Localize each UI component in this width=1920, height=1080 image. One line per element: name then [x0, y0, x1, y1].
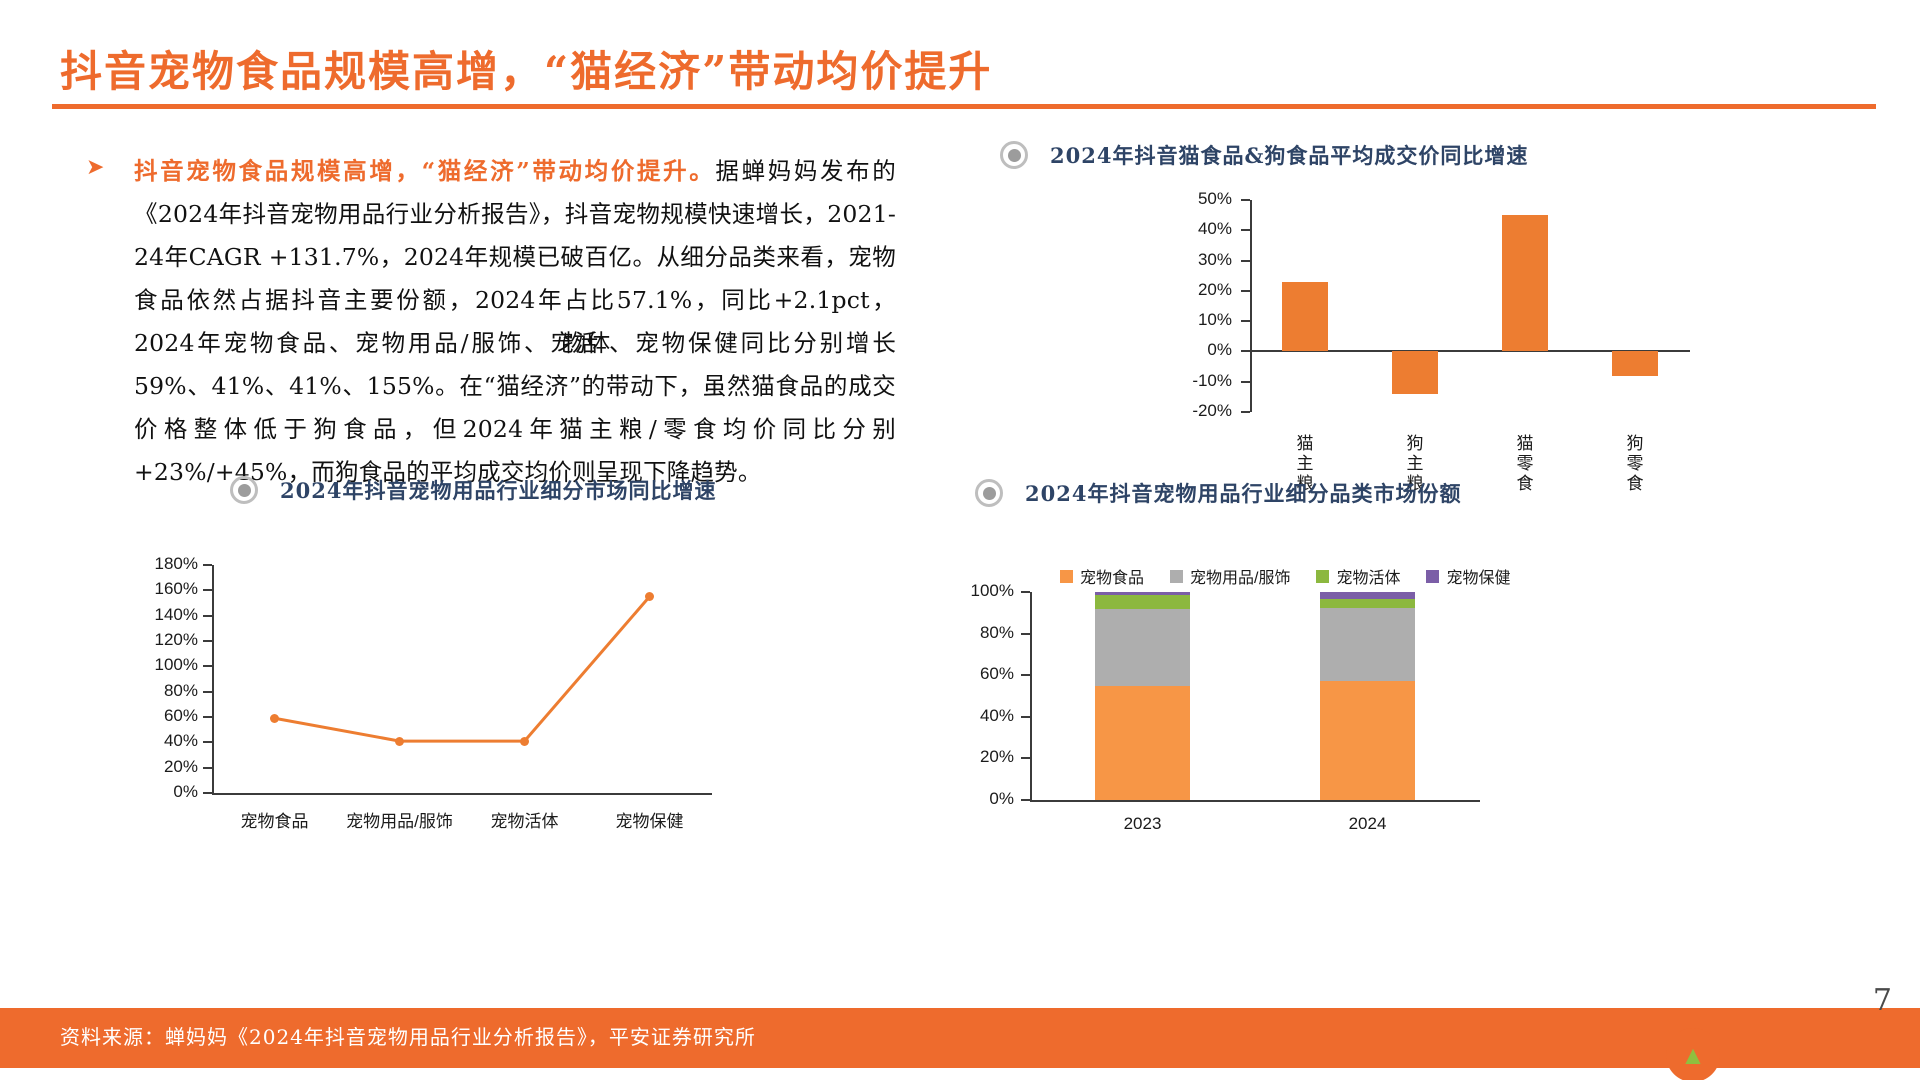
- paragraph-lead: 抖音宠物食品规模高增，“猫经济”带动均价提升。: [134, 157, 715, 185]
- page-title: 抖音宠物食品规模高增，“猫经济”带动均价提升: [60, 38, 992, 99]
- y-axis-tick: [1241, 199, 1250, 201]
- bullseye-icon: [230, 476, 258, 504]
- y-axis-label: 60%: [128, 706, 198, 726]
- x-axis-label: 狗 零 食: [1625, 434, 1645, 494]
- y-axis-label: 80%: [128, 681, 198, 701]
- y-axis-tick: [203, 741, 212, 743]
- y-axis-tick: [1241, 411, 1250, 413]
- y-axis-label: 20%: [944, 747, 1014, 767]
- stack-segment-2024-宠物食品: [1320, 681, 1415, 800]
- stack-segment-2023-宠物活体: [1095, 595, 1190, 609]
- y-axis-label: 160%: [128, 579, 198, 599]
- y-axis-tick: [1241, 290, 1250, 292]
- y-axis-tick: [203, 564, 212, 566]
- title-divider: [52, 104, 1876, 109]
- page-edge-left: [0, 0, 6, 1080]
- y-axis-tick: [1241, 260, 1250, 262]
- y-axis-line: [1030, 592, 1032, 800]
- legend-item-宠物用品/服饰: 宠物用品/服饰: [1170, 564, 1290, 588]
- y-axis-tick: [203, 716, 212, 718]
- y-axis-label: 140%: [128, 605, 198, 625]
- y-axis-tick: [1241, 320, 1250, 322]
- y-axis-label: 10%: [1162, 310, 1232, 330]
- chart-title-top-right: 2024年抖音猫食品&狗食品平均成交价同比增速: [1050, 140, 1528, 170]
- y-axis-label: 0%: [944, 789, 1014, 809]
- y-axis-tick: [203, 691, 212, 693]
- y-axis-label: 120%: [128, 630, 198, 650]
- legend-item-宠物食品: 宠物食品: [1060, 564, 1144, 588]
- y-axis-label: -20%: [1162, 401, 1232, 421]
- legend-label: 宠物活体: [1336, 564, 1400, 588]
- y-axis-tick: [203, 640, 212, 642]
- y-axis-label: 40%: [128, 731, 198, 751]
- y-axis-tick: [203, 589, 212, 591]
- bullet-arrow-icon: ➤: [86, 156, 104, 178]
- bullet-paragraph-block: ➤ 抖音宠物食品规模高增，“猫经济”带动均价提升。据蝉妈妈发布的《2024年抖音…: [86, 150, 896, 494]
- slide-root: 抖音宠物食品规模高增，“猫经济”带动均价提升 ➤ 抖音宠物食品规模高增，“猫经济…: [0, 0, 1920, 1080]
- legend-swatch: [1170, 570, 1183, 583]
- chart-bottom-left: 180%160%140%120%100%80%60%40%20%0%宠物食品宠物…: [150, 555, 750, 815]
- x-axis-line: [1030, 800, 1480, 802]
- source-note: 资料来源：蝉妈妈《2024年抖音宠物用品行业分析报告》，平安证券研究所: [60, 1021, 756, 1050]
- x-axis-label: 2024: [1308, 814, 1428, 834]
- y-axis-label: 40%: [944, 706, 1014, 726]
- legend-item-宠物保健: 宠物保健: [1426, 564, 1510, 588]
- legend-swatch: [1316, 570, 1329, 583]
- chart-bottom-right: 宠物食品宠物用品/服饰宠物活体宠物保健 100%80%60%40%20%0%20…: [960, 570, 1520, 830]
- data-point-宠物用品/服饰: [395, 737, 404, 746]
- y-axis-tick: [1021, 757, 1030, 759]
- y-axis-tick: [1021, 799, 1030, 801]
- chart-header-bottom-left: 2024年抖音宠物用品行业细分市场同比增速: [230, 475, 716, 505]
- footer-logo-badge: ▲: [1666, 1028, 1720, 1080]
- y-axis-label: 60%: [944, 664, 1014, 684]
- plot-area-top-right: 50%40%30%20%10%0%-10%-20%猫 主 粮狗 主 粮猫 零 食…: [1250, 200, 1690, 412]
- bullseye-icon: [1000, 141, 1028, 169]
- body-paragraph: 抖音宠物食品规模高增，“猫经济”带动均价提升。据蝉妈妈发布的《2024年抖音宠物…: [134, 150, 896, 494]
- x-axis-line: [212, 793, 712, 795]
- y-axis-label: 30%: [1162, 250, 1232, 270]
- y-axis-line: [1250, 200, 1252, 412]
- y-axis-label: 20%: [128, 757, 198, 777]
- legend-swatch: [1060, 570, 1073, 583]
- y-axis-label: 0%: [1162, 340, 1232, 360]
- y-axis-label: 0%: [128, 782, 198, 802]
- x-axis-label: 宠物保健: [570, 807, 730, 832]
- y-axis-label: 80%: [944, 623, 1014, 643]
- bar-狗主粮: [1392, 351, 1438, 393]
- chart-title-bottom-right: 2024年抖音宠物用品行业细分品类市场份额: [1025, 478, 1461, 508]
- y-axis-tick: [1021, 591, 1030, 593]
- y-axis-tick: [1021, 674, 1030, 676]
- legend-label: 宠物保健: [1446, 564, 1510, 588]
- data-point-宠物活体: [520, 737, 529, 746]
- y-axis-label: -10%: [1162, 371, 1232, 391]
- y-axis-tick: [1241, 350, 1250, 352]
- data-point-宠物食品: [270, 714, 279, 723]
- x-axis-label: 猫 零 食: [1515, 434, 1535, 494]
- legend-swatch: [1426, 570, 1439, 583]
- y-axis-label: 20%: [1162, 280, 1232, 300]
- legend-label: 宠物食品: [1080, 564, 1144, 588]
- stack-segment-2023-宠物用品/服饰: [1095, 609, 1190, 686]
- plot-area-bottom-right: 100%80%60%40%20%0%20232024: [1030, 592, 1480, 800]
- y-axis-label: 40%: [1162, 219, 1232, 239]
- chart-legend-bottom-right: 宠物食品宠物用品/服饰宠物活体宠物保健: [1060, 564, 1511, 588]
- plot-area-bottom-left: 180%160%140%120%100%80%60%40%20%0%宠物食品宠物…: [212, 565, 712, 793]
- y-axis-tick: [203, 615, 212, 617]
- legend-item-宠物活体: 宠物活体: [1316, 564, 1400, 588]
- paragraph-body-part1: 据蝉妈妈发布的《2024年抖音宠物用品行业分析报告》，抖音宠物规模快速增长，20…: [134, 157, 896, 357]
- y-axis-tick: [203, 767, 212, 769]
- x-axis-label: 2023: [1083, 814, 1203, 834]
- chart-title-bottom-left: 2024年抖音宠物用品行业细分市场同比增速: [280, 475, 716, 505]
- legend-label: 宠物用品/服饰: [1190, 564, 1290, 588]
- stack-segment-2024-宠物用品/服饰: [1320, 608, 1415, 682]
- y-axis-label: 100%: [128, 655, 198, 675]
- chart-header-top-right: 2024年抖音猫食品&狗食品平均成交价同比增速: [1000, 140, 1528, 170]
- y-axis-tick: [1241, 381, 1250, 383]
- y-axis-label: 50%: [1162, 189, 1232, 209]
- y-axis-tick: [1241, 229, 1250, 231]
- bullseye-icon: [975, 479, 1003, 507]
- y-axis-tick: [1021, 633, 1030, 635]
- y-axis-tick: [1021, 716, 1030, 718]
- line-series: [212, 565, 712, 793]
- chart-top-right: 50%40%30%20%10%0%-10%-20%猫 主 粮狗 主 粮猫 零 食…: [1170, 186, 1730, 456]
- y-axis-label: 100%: [944, 581, 1014, 601]
- y-axis-label: 180%: [128, 554, 198, 574]
- page-number: 7: [1873, 983, 1892, 1018]
- chart-header-bottom-right: 2024年抖音宠物用品行业细分品类市场份额: [975, 478, 1461, 508]
- stack-segment-2024-宠物活体: [1320, 599, 1415, 607]
- bar-猫零食: [1502, 215, 1548, 351]
- paragraph-overlap-text: 宠物活体: [550, 329, 599, 357]
- y-axis-tick: [203, 665, 212, 667]
- bar-猫主粮: [1282, 282, 1328, 352]
- stack-segment-2024-宠物保健: [1320, 592, 1415, 599]
- y-axis-tick: [203, 792, 212, 794]
- stack-segment-2023-宠物保健: [1095, 592, 1190, 595]
- stack-segment-2023-宠物食品: [1095, 686, 1190, 800]
- page-edge-right: [1912, 0, 1920, 1080]
- bar-狗零食: [1612, 351, 1658, 375]
